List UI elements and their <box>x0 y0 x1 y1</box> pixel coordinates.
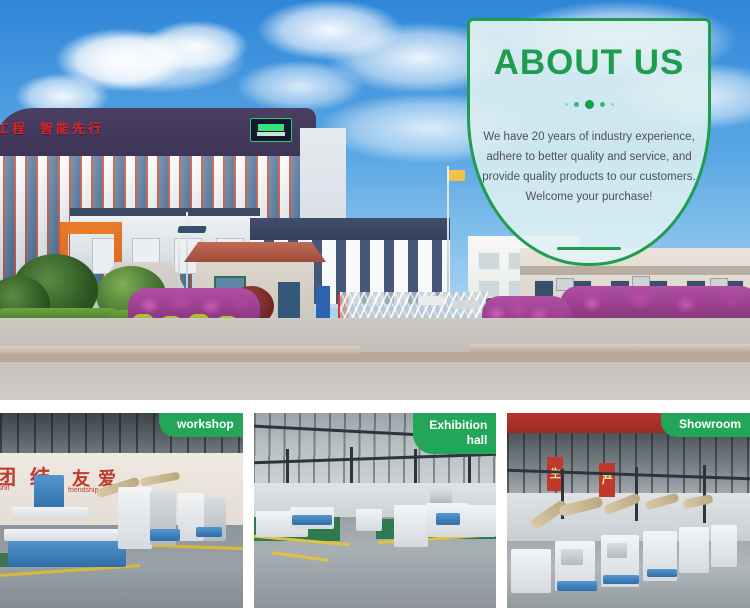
notice-board <box>316 286 330 320</box>
fascia-chinese-text-1: 工程 <box>0 118 28 137</box>
machine-base <box>647 569 677 577</box>
banner-text: 产 <box>602 474 613 486</box>
thumbnail-badge-exhibition-hall: Exhibition hall <box>413 413 496 454</box>
about-line-1: We have 20 years of industry experience, <box>478 127 700 147</box>
badge-label: Showroom <box>679 417 741 431</box>
about-line-4: Welcome your purchase! <box>478 187 700 207</box>
machine-cabinet <box>511 549 551 593</box>
cnc-machine-table <box>4 529 132 541</box>
parked-car <box>452 300 478 309</box>
about-us-description: We have 20 years of industry experience,… <box>478 127 700 207</box>
machine <box>466 505 496 537</box>
monitor <box>430 489 452 503</box>
flag <box>449 170 465 181</box>
machine-base <box>150 529 180 541</box>
dot-5 <box>611 103 614 106</box>
thumbnail-badge-workshop: workshop <box>159 413 243 437</box>
shield-divider-rule <box>557 247 621 250</box>
about-us-page: 工程 智能先行 <box>0 0 750 608</box>
about-line-2: adhere to better quality and service, an… <box>478 147 700 167</box>
building-fascia: 工程 智能先行 <box>0 108 316 158</box>
machine-base <box>292 515 332 525</box>
machine-base <box>603 575 639 584</box>
hero-banner-image: 工程 智能先行 <box>0 0 750 400</box>
control-panel <box>607 543 627 558</box>
cnc-gantry <box>12 507 88 519</box>
badge-label-line-1: Exhibition <box>429 418 487 433</box>
machine <box>394 505 428 547</box>
showroom-roof-trusses <box>507 433 750 499</box>
company-logo-sign <box>250 118 292 142</box>
cnc-machine <box>34 475 64 511</box>
solar-lamp-panel <box>177 226 206 233</box>
dot-1 <box>565 103 568 106</box>
badge-label: workshop <box>177 417 234 431</box>
badge-label-line-2: hall <box>429 433 487 448</box>
machine-panel <box>436 513 460 525</box>
machine-cabinet <box>679 527 709 573</box>
thumbnail-exhibition-hall[interactable]: Exhibition hall <box>254 413 497 608</box>
thumbnail-badge-showroom: Showroom <box>661 413 750 437</box>
fascia-chinese-text-2: 智能先行 <box>40 118 104 137</box>
curb-edge <box>0 346 360 354</box>
hanging-banner-2: 产 <box>599 463 615 497</box>
about-us-title: ABOUT US <box>470 45 708 80</box>
cnc-machine-bed <box>8 539 126 567</box>
about-line-3: provide quality products to our customer… <box>478 167 700 187</box>
machine <box>356 509 382 531</box>
machine-base <box>557 581 597 591</box>
guard-house-roof <box>184 242 326 262</box>
machine-cabinet <box>118 487 152 549</box>
thumbnail-showroom[interactable]: 生 产 S <box>507 413 750 608</box>
dot-3 <box>585 100 594 109</box>
dot-decoration <box>470 100 708 109</box>
facility-thumbnail-row: 团 结 友 爱 unit friendship <box>0 413 750 608</box>
curb-edge <box>470 344 750 352</box>
thumbnail-workshop[interactable]: 团 结 友 爱 unit friendship <box>0 413 243 608</box>
machine-base <box>196 527 222 537</box>
dot-2 <box>574 102 579 107</box>
control-panel <box>561 549 583 565</box>
parked-car <box>418 296 444 305</box>
dot-4 <box>600 102 605 107</box>
machine-cabinet <box>711 525 737 567</box>
